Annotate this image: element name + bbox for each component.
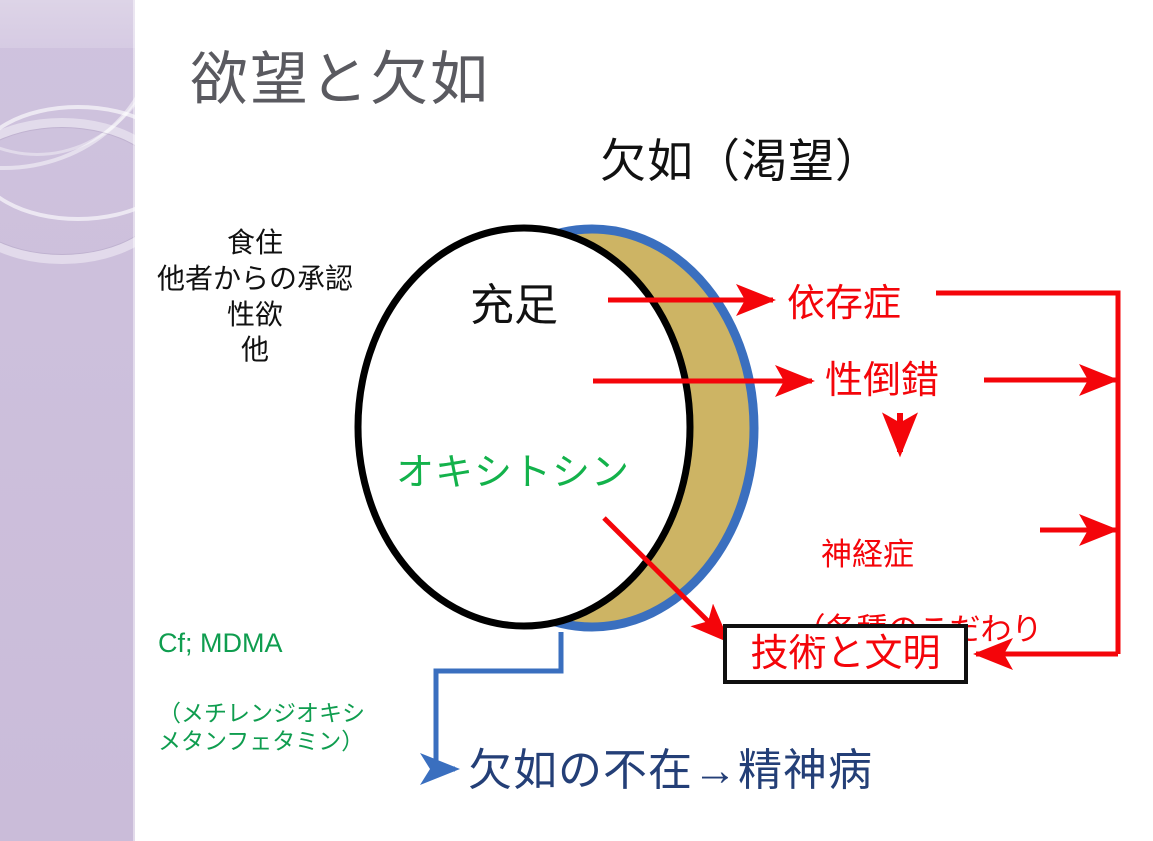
neurosis-title: 神経症 [760, 536, 975, 574]
outcome-neurosis: 神経症 （各種のこだわり とウツ） [760, 460, 1060, 725]
sidebar-ring-inner-icon [0, 105, 135, 221]
slide-canvas: 欲望と欠如 欠如（渇望） 食住 他者からの承認 性欲 他 充足 オキシトシン C… [0, 0, 1153, 841]
outcome-addiction: 依存症 [787, 283, 901, 326]
lack-heading: 欠如（渇望） [600, 136, 882, 188]
arrow-to-technology [604, 518, 728, 641]
technology-box: 技術と文明 [723, 624, 968, 684]
needs-list: 食住 他者からの承認 性欲 他 [120, 225, 390, 368]
mdma-line-1: Cf; MDMA [158, 627, 365, 660]
outcome-paraphilia: 性倒錯 [825, 360, 939, 403]
sidebar-edge-divider [133, 0, 135, 841]
decorative-sidebar [0, 0, 135, 841]
psychosis-label: 欠如の不在→精神病 [468, 746, 873, 795]
page-title: 欲望と欠如 [190, 48, 490, 113]
oxytocin-label: オキシトシン [396, 452, 630, 495]
mdma-note: Cf; MDMA （メチレンジオキシ メタンフェタミン） [158, 588, 365, 794]
mdma-line-2: （メチレンジオキシ メタンフェタミン） [158, 699, 365, 755]
fulfillment-label: 充足 [470, 283, 542, 329]
outcome-technology: 技術と文明 [750, 633, 940, 676]
